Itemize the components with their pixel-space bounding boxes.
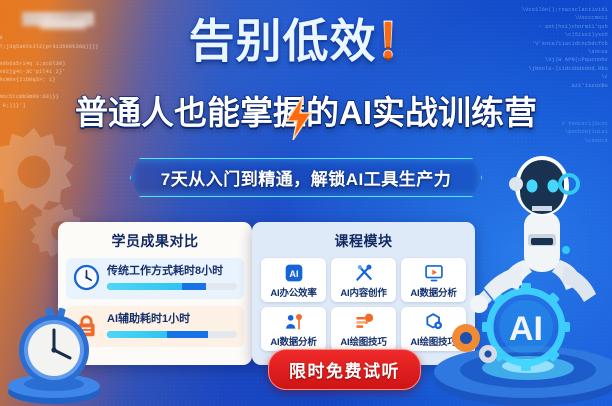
pen-cross-icon xyxy=(332,262,395,284)
headline-text: 告别低效 xyxy=(189,15,377,67)
comparison-label: 传统工作方式耗时8小时 xyxy=(107,265,237,277)
module-label: AI绘图技巧 xyxy=(332,334,395,348)
comparison-row-body: 传统工作方式耗时8小时 xyxy=(107,265,237,289)
module-item[interactable]: AI数据分析 xyxy=(261,307,326,351)
comparison-row-traditional: 传统工作方式耗时8小时 xyxy=(66,258,244,299)
robot-icon: AI xyxy=(428,142,612,406)
module-item[interactable]: AI内容创作 xyxy=(331,258,396,302)
ai-badge-icon: AI xyxy=(262,262,325,284)
svg-text:AI: AI xyxy=(289,269,298,279)
module-label: AI数据分析 xyxy=(262,334,325,348)
promo-banner: ( )0 =?;j3q5a6tk3l2(pr3i3560k36q)}}} (n0… xyxy=(0,0,612,406)
module-item[interactable]: AI绘图技巧 xyxy=(331,307,396,351)
module-label: AI办公效率 xyxy=(262,285,325,299)
progress-bar xyxy=(107,331,237,338)
progress-bar xyxy=(107,283,237,290)
cta-button[interactable]: 限时免费试听 xyxy=(268,349,421,390)
person-chart-icon xyxy=(262,311,325,333)
ai-hologram-label: AI xyxy=(509,310,543,348)
chart-bubble-icon xyxy=(332,311,395,333)
subtitle: 普通人也能掌握的AI实战训练营 xyxy=(0,96,612,129)
module-item[interactable]: AI AI办公效率 xyxy=(261,258,326,302)
results-card-title: 学员成果对比 xyxy=(58,231,252,251)
page-title: 告别低效！ xyxy=(0,18,612,64)
progress-fill-cyan xyxy=(107,283,182,290)
progress-fill-cyan xyxy=(107,331,167,338)
comparison-row-body: AI辅助耗时1小时 xyxy=(107,313,237,337)
headline-exclamation: ！ xyxy=(377,15,424,67)
comparison-label: AI辅助耗时1小时 xyxy=(107,313,237,325)
clock-icon xyxy=(73,264,100,291)
stopwatch-icon xyxy=(2,300,106,406)
module-label: AI内容创作 xyxy=(332,285,395,299)
